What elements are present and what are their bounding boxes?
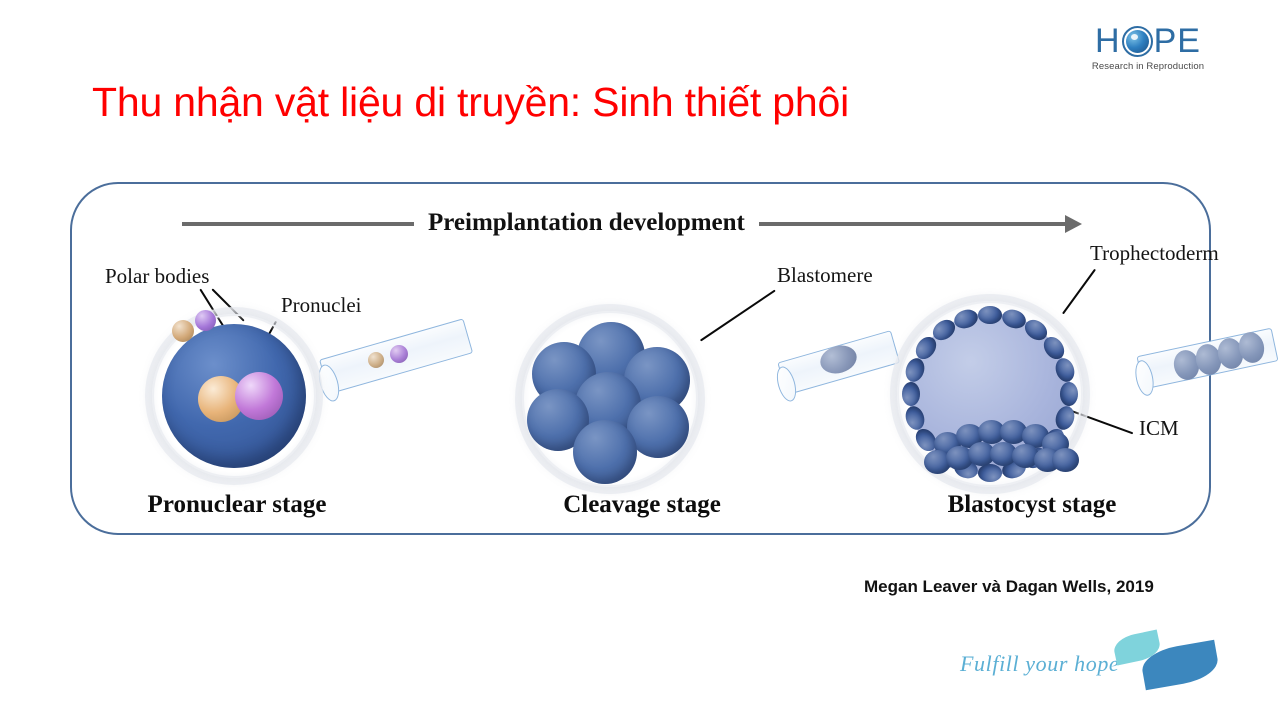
callout-icm: ICM bbox=[1139, 416, 1179, 441]
callout-pronuclei: Pronuclei bbox=[281, 293, 361, 318]
stage-label-blastocyst: Blastocyst stage bbox=[882, 491, 1182, 519]
footer-tagline: Fulfill your hope bbox=[960, 651, 1119, 677]
callout-trophectoderm: Trophectoderm bbox=[1090, 241, 1219, 266]
stage-pronuclear: Polar bodies Pronuclei Pronuclear stage bbox=[72, 184, 472, 537]
leader-blastomere bbox=[700, 289, 776, 341]
page-title: Thu nhận vật liệu di truyền: Sinh thiết … bbox=[92, 79, 849, 126]
hope-logo-letter-h: H bbox=[1095, 24, 1121, 58]
credit-line: Megan Leaver và Dagan Wells, 2019 bbox=[864, 577, 1154, 597]
hope-logo-letters-pe: PE bbox=[1154, 24, 1201, 58]
pipette-cell-polar-body-1 bbox=[368, 352, 384, 368]
polar-body-2 bbox=[195, 310, 216, 331]
pronucleus-paternal bbox=[235, 372, 283, 420]
trophectoderm-cell bbox=[902, 382, 920, 406]
stage-blastocyst: Trophectoderm ICM Blastocyst stage bbox=[852, 184, 1213, 537]
hope-eye-glint bbox=[1131, 34, 1138, 40]
trophectoderm-cell bbox=[1060, 382, 1078, 406]
hope-logo-wordmark: H PE bbox=[1080, 24, 1216, 58]
leader-trophectoderm bbox=[1062, 268, 1096, 314]
icm-cell bbox=[1052, 448, 1079, 472]
blastomere bbox=[573, 420, 637, 484]
diagram-panel: Preimplantation development Polar bodies… bbox=[70, 182, 1211, 535]
polar-body-1 bbox=[172, 320, 194, 342]
hope-logo: H PE Research in Reproduction bbox=[1080, 24, 1216, 80]
stage-label-cleavage: Cleavage stage bbox=[492, 491, 792, 519]
hope-eye-pupil bbox=[1126, 30, 1149, 53]
trophectoderm-cell bbox=[978, 464, 1002, 482]
stage-cleavage: Blastomere Cleavage stage bbox=[472, 184, 852, 537]
stage-label-pronuclear: Pronuclear stage bbox=[72, 491, 402, 519]
hope-eye-icon bbox=[1122, 26, 1153, 57]
hope-leaves-icon bbox=[1112, 632, 1220, 686]
hope-logo-tagline: Research in Reproduction bbox=[1080, 61, 1216, 72]
trophectoderm-cell bbox=[978, 306, 1002, 324]
pipette-cell-polar-body-2 bbox=[390, 345, 408, 363]
callout-polar-bodies: Polar bodies bbox=[105, 264, 209, 289]
